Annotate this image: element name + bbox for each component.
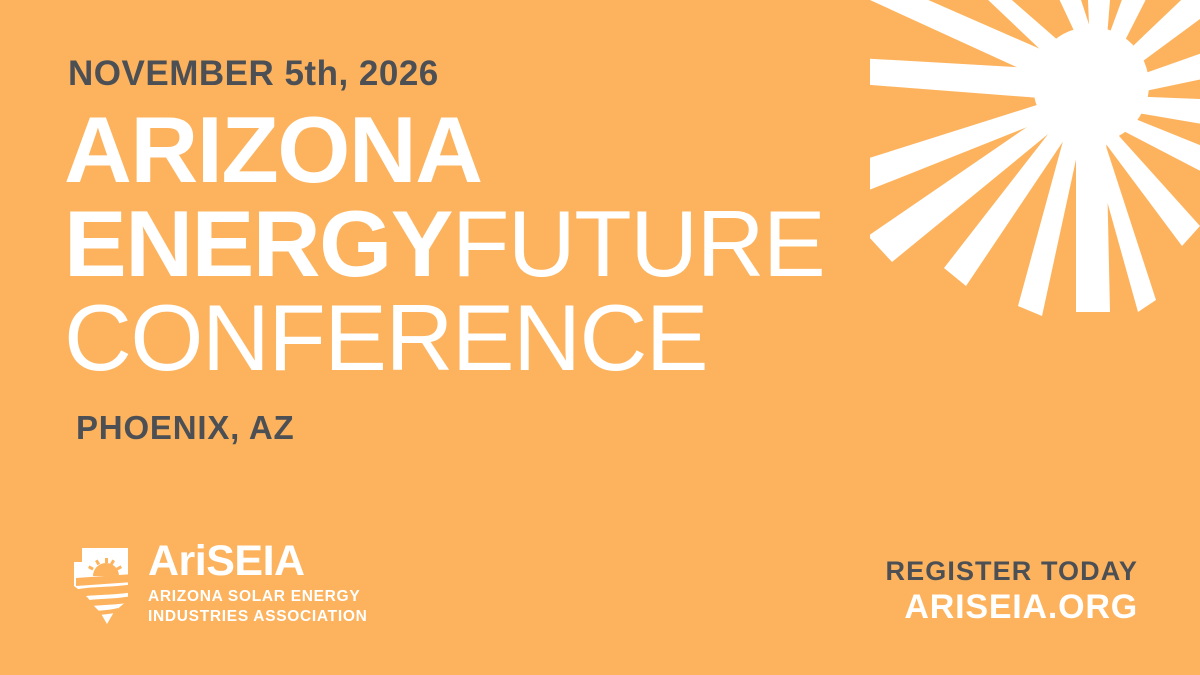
page-title: ARIZONA ENERGYFUTURE CONFERENCE bbox=[64, 106, 824, 388]
headline-line-2-light: FUTURE bbox=[452, 191, 824, 296]
event-banner: NOVEMBER 5th, 2026 ARIZONA ENERGYFUTURE … bbox=[0, 0, 1200, 675]
ariseia-wordmark: AriSEIA bbox=[148, 540, 368, 583]
register-block[interactable]: REGISTER TODAY ARISEIA.ORG bbox=[886, 556, 1138, 626]
event-date: NOVEMBER 5th, 2026 bbox=[68, 54, 439, 94]
register-cta-label: REGISTER TODAY bbox=[886, 556, 1138, 587]
ariseia-arizona-sun-logo-icon bbox=[74, 542, 136, 626]
headline-line-3: CONFERENCE bbox=[64, 294, 824, 388]
ariseia-subtitle: ARIZONA SOLAR ENERGY INDUSTRIES ASSOCIAT… bbox=[148, 587, 368, 627]
ariseia-subtitle-line-2: INDUSTRIES ASSOCIATION bbox=[148, 607, 368, 627]
ariseia-logo-text: AriSEIA ARIZONA SOLAR ENERGY INDUSTRIES … bbox=[148, 540, 368, 627]
headline-line-1: ARIZONA bbox=[64, 106, 824, 200]
ariseia-logo: AriSEIA ARIZONA SOLAR ENERGY INDUSTRIES … bbox=[74, 540, 368, 627]
event-location: PHOENIX, AZ bbox=[76, 409, 294, 447]
headline-line-2: ENERGYFUTURE bbox=[64, 200, 824, 294]
register-url-link[interactable]: ARISEIA.ORG bbox=[886, 589, 1138, 626]
sunburst-icon bbox=[870, 0, 1200, 320]
ariseia-subtitle-line-1: ARIZONA SOLAR ENERGY bbox=[148, 587, 368, 607]
headline-line-2-bold: ENERGY bbox=[64, 191, 452, 296]
